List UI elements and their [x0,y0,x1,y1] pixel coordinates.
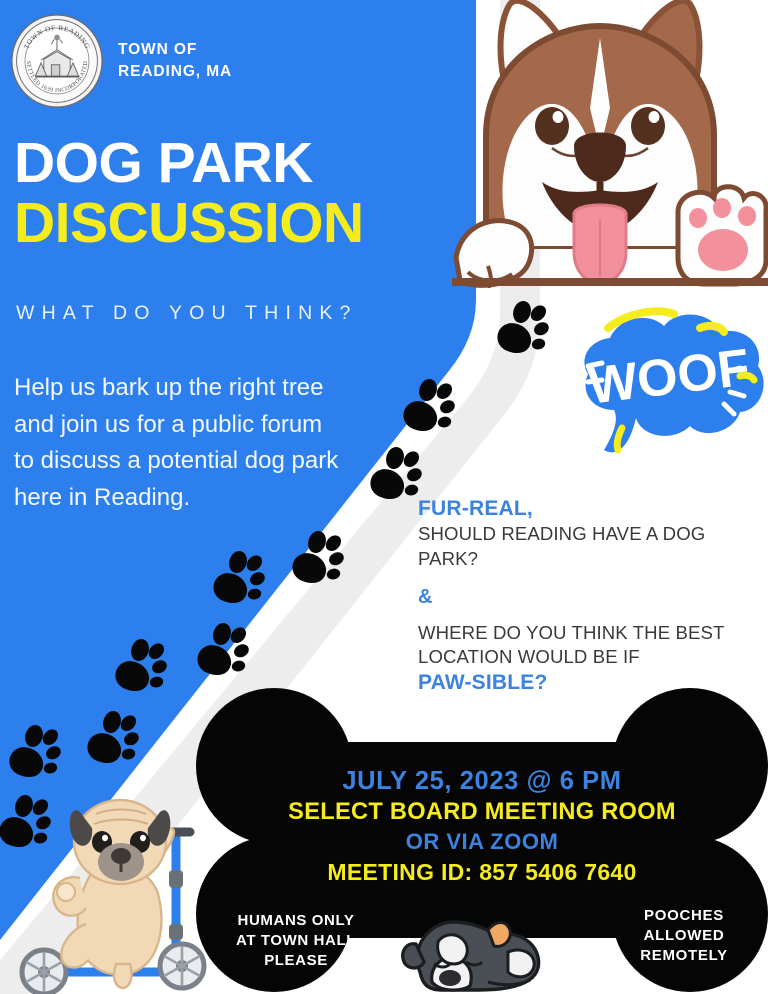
body-copy: Help us bark up the right tree and join … [14,370,344,517]
pug-body [53,800,174,988]
question-text-1: SHOULD READING HAVE A DOG PARK? [418,522,768,571]
town-name-label: TOWN OF READING, MA [118,39,232,84]
question-accent-1: FUR-REAL, [418,496,768,522]
meeting-date: JULY 25, 2023 @ 6 PM [226,766,738,797]
question-text-2: WHERE DO YOU THINK THE BEST LOCATION WOU… [418,621,768,670]
question-ampersand: & [418,585,768,609]
sleeping-bulldog-icon [392,908,548,994]
pooches-remote-note: POOCHES ALLOWED REMOTELY [606,906,762,966]
humans-only-note: HUMANS ONLY AT TOWN HALL PLEASE [208,911,384,971]
header: TOWN OF READING SETTLED 1639 INCORPORATE… [10,14,232,108]
flyer-canvas: TOWN OF READING SETTLED 1639 INCORPORATE… [0,0,768,994]
meeting-alt-location: OR VIA ZOOM [226,827,738,857]
meeting-id: MEETING ID: 857 5406 7640 [226,857,738,887]
meeting-details: JULY 25, 2023 @ 6 PM SELECT BOARD MEETIN… [226,766,738,887]
husky-dog-icon [452,0,768,288]
title-line-2: DISCUSSION [14,194,364,254]
page-title: DOG PARK DISCUSSION [14,136,364,254]
pug-on-scooter-icon [8,774,222,994]
question-accent-2: PAW-SIBLE? [418,670,768,696]
title-line-1: DOG PARK [14,136,364,192]
question-block: FUR-REAL, SHOULD READING HAVE A DOG PARK… [418,496,768,696]
woof-speech-bubble: WOOF [574,300,768,458]
subtitle: WHAT DO YOU THINK? [16,302,358,325]
town-seal-icon: TOWN OF READING SETTLED 1639 INCORPORATE… [10,14,104,108]
meeting-location: SELECT BOARD MEETING ROOM [226,797,738,828]
